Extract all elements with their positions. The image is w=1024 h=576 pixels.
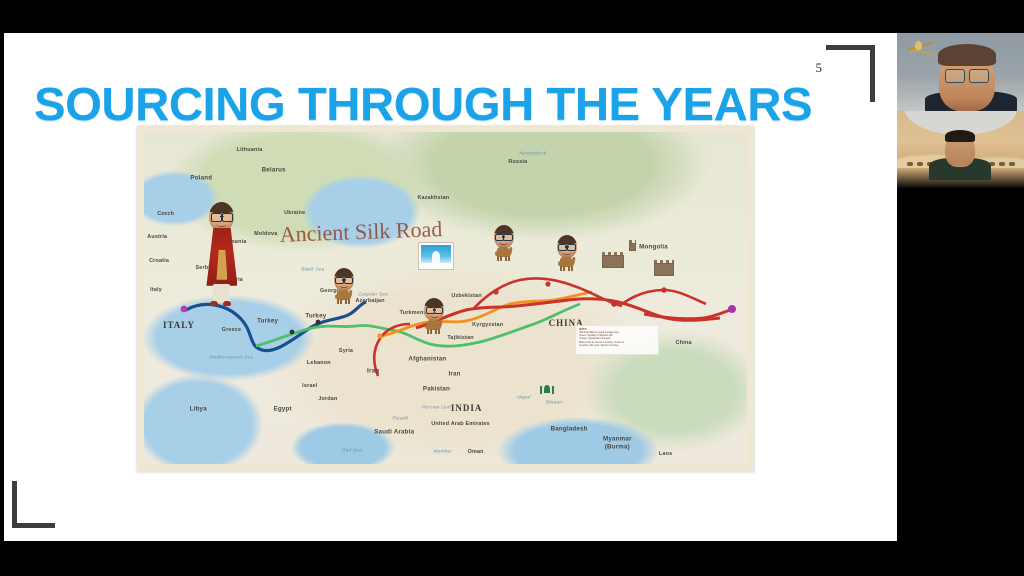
video-participant-panel[interactable]: [897, 33, 1024, 188]
map-label: Kazakhstan: [417, 195, 449, 201]
map-label: Ukraine: [284, 210, 305, 216]
map-label: Croatia: [149, 258, 169, 264]
map-label: Egypt: [274, 406, 292, 413]
map-label: United Arab Emirates: [431, 421, 490, 427]
route-node-3: [611, 301, 617, 307]
map-label: Tajikistan: [447, 335, 473, 341]
map-label: Austria: [147, 234, 167, 240]
map-label: Libya: [190, 406, 207, 413]
map-label: Syria: [339, 348, 353, 354]
map-label: Turkey: [305, 313, 326, 320]
map-label: Bangladesh: [551, 426, 588, 433]
map-label: Israel: [302, 383, 317, 389]
caricature-rider-turkmenistan: [421, 298, 447, 340]
route-node-6: [377, 333, 382, 338]
map-label: Czech: [157, 211, 174, 217]
map-label: Nepal: [517, 395, 531, 400]
map-label: Persian Gulf: [422, 405, 451, 410]
map-label: Red Sea: [342, 448, 362, 453]
map-label: Mumbai: [433, 450, 451, 455]
video-tile-participant-bottom[interactable]: [897, 111, 1024, 188]
map-label: Pakistan: [423, 386, 450, 393]
route-node-8: [316, 320, 321, 325]
corner-bracket-bottom-left-icon: [12, 481, 55, 528]
map-label: Russia: [508, 159, 527, 165]
screen: SOURCING THROUGH THE YEARS 5: [0, 0, 1024, 576]
video-tile-participant-top[interactable]: [897, 33, 1024, 111]
map-label: Iraq: [367, 368, 379, 375]
map-label: China: [676, 340, 692, 346]
map-label: Bhutan: [546, 400, 562, 405]
map-label: Iran: [448, 371, 460, 378]
camel-caravan-icon: [1009, 162, 1015, 166]
corner-bracket-top-right-icon: [826, 45, 875, 102]
map-label: Black Sea: [301, 267, 324, 272]
map-label: Belarus: [262, 167, 286, 174]
map-label: Saudi Arabia: [374, 429, 414, 436]
camel-caravan-icon: [999, 162, 1005, 166]
map-label: Lithuania: [237, 147, 263, 153]
great-wall-tower-icon: [629, 243, 636, 251]
route-node-7: [290, 330, 295, 335]
route-node-1: [493, 289, 498, 294]
silk-road-map: Ancient Silk Road LithuaniaPolandBelarus…: [144, 132, 747, 464]
route-node-4: [661, 287, 667, 293]
map-label: Italy: [150, 287, 162, 293]
legend-line: Sumatra, Silk route, Return of Venice: [579, 344, 655, 347]
page-title: SOURCING THROUGH THE YEARS: [34, 77, 812, 131]
map-label: Mongolia: [639, 243, 668, 250]
map-label: Poland: [190, 175, 212, 182]
map-label: Moldova: [254, 231, 277, 237]
landmark-india-monument-icon: [539, 383, 555, 396]
landmark-mosque-flag-icon: [418, 242, 454, 270]
map-legend: NOTE: Silk Road Map by world heritage si…: [575, 325, 659, 355]
map-label: Laos: [659, 451, 672, 457]
map-label: Novosibirsk: [519, 151, 546, 156]
map-image-frame[interactable]: Ancient Silk Road LithuaniaPolandBelarus…: [137, 126, 754, 472]
camel-caravan-icon: [907, 162, 913, 166]
map-label: Lebanon: [307, 360, 331, 366]
panel-empty-area: [897, 188, 1024, 576]
map-label: INDIA: [451, 403, 483, 413]
map-label: (Burma): [605, 444, 630, 451]
map-label: Turkey: [257, 318, 278, 325]
great-wall-icon-2: [654, 263, 674, 276]
map-label: Caspian Sea: [358, 292, 388, 297]
participant-bottom-hair: [945, 130, 975, 142]
route-node-xian: [728, 305, 736, 313]
map-label: Mediterranean Sea: [209, 355, 253, 360]
map-label: Myanmar: [603, 436, 632, 443]
caricature-rider-kyrgyzstan: [554, 235, 580, 277]
camel-caravan-icon: [917, 162, 923, 166]
slide-number: 5: [816, 60, 823, 76]
presentation-slide[interactable]: SOURCING THROUGH THE YEARS 5: [4, 33, 897, 541]
participant-top-glasses: [945, 69, 989, 81]
route-node-venice: [181, 306, 188, 313]
caricature-merchant-italy: [202, 202, 242, 312]
caricature-rider-georgia: [331, 268, 357, 310]
map-label: Kyrgyzstan: [472, 322, 503, 328]
map-label: Azerbaijan: [355, 298, 384, 304]
caricature-rider-uzbekistan: [491, 225, 517, 267]
great-wall-icon-1: [602, 255, 624, 268]
map-label: Uzbekistan: [451, 293, 481, 299]
map-label: Riyadh: [392, 417, 408, 422]
map-label: Afghanistan: [408, 356, 446, 363]
map-label: Jordan: [318, 396, 337, 402]
map-label: ITALY: [163, 320, 195, 330]
map-label: Oman: [468, 449, 484, 455]
map-label: Greece: [222, 327, 241, 333]
route-node-2: [545, 281, 550, 286]
participant-top-hair: [938, 44, 996, 66]
